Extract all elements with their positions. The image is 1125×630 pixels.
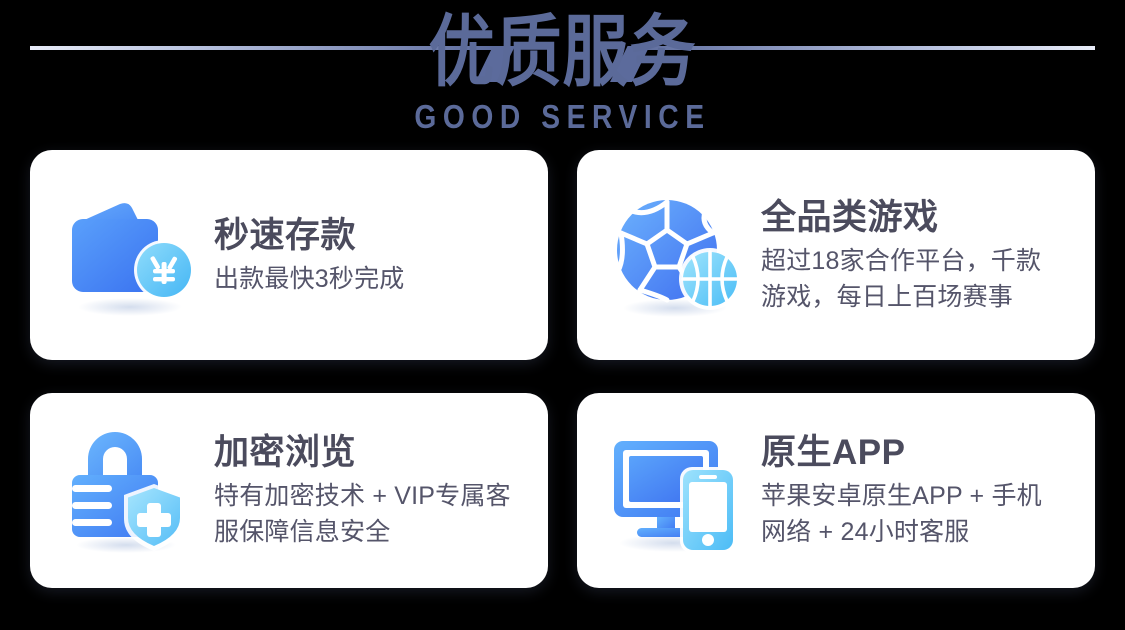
card-text-block: 加密浏览 特有加密技术 + VIP专属客 服保障信息安全 bbox=[208, 431, 522, 550]
feature-card-encryption[interactable]: 加密浏览 特有加密技术 + VIP专属客 服保障信息安全 bbox=[30, 393, 548, 588]
card-text-block: 原生APP 苹果安卓原生APP + 手机 网络 + 24小时客服 bbox=[755, 431, 1069, 550]
card-subtitle-line: 苹果安卓原生APP + 手机 bbox=[761, 478, 1069, 514]
card-title: 秒速存款 bbox=[214, 214, 522, 258]
card-subtitle-line: 特有加密技术 + VIP专属客 bbox=[214, 478, 522, 514]
card-subtitle: 超过18家合作平台，千款 游戏，每日上百场赛事 bbox=[761, 243, 1069, 315]
card-subtitle: 特有加密技术 + VIP专属客 服保障信息安全 bbox=[214, 478, 522, 550]
card-subtitle-line: 网络 + 24小时客服 bbox=[761, 514, 1069, 550]
card-text-block: 全品类游戏 超过18家合作平台，千款 游戏，每日上百场赛事 bbox=[755, 196, 1069, 315]
feature-card-deposit[interactable]: 秒速存款 出款最快3秒完成 bbox=[30, 150, 548, 360]
card-subtitle: 出款最快3秒完成 bbox=[214, 261, 522, 297]
page-title: 优质服务 bbox=[0, 4, 1125, 101]
card-title: 原生APP bbox=[761, 431, 1069, 475]
card-subtitle-line: 出款最快3秒完成 bbox=[214, 261, 522, 297]
card-subtitle-line: 游戏，每日上百场赛事 bbox=[761, 279, 1069, 315]
page-header: 优质服务 GOOD SERVICE bbox=[0, 0, 1125, 145]
card-title: 加密浏览 bbox=[214, 431, 522, 475]
card-subtitle-line: 超过18家合作平台，千款 bbox=[761, 243, 1069, 279]
feature-card-grid: 秒速存款 出款最快3秒完成 bbox=[30, 150, 1095, 588]
card-title: 全品类游戏 bbox=[761, 196, 1069, 240]
monitor-phone-icon bbox=[605, 423, 755, 558]
card-subtitle-line: 服保障信息安全 bbox=[214, 514, 522, 550]
feature-card-games[interactable]: 全品类游戏 超过18家合作平台，千款 游戏，每日上百场赛事 bbox=[577, 150, 1095, 360]
lock-shield-icon bbox=[58, 423, 208, 558]
wallet-coin-icon bbox=[58, 188, 208, 323]
feature-card-native-app[interactable]: 原生APP 苹果安卓原生APP + 手机 网络 + 24小时客服 bbox=[577, 393, 1095, 588]
page-subtitle: GOOD SERVICE bbox=[34, 99, 1092, 137]
soccer-basketball-icon bbox=[605, 188, 755, 323]
card-text-block: 秒速存款 出款最快3秒完成 bbox=[208, 214, 522, 297]
card-subtitle: 苹果安卓原生APP + 手机 网络 + 24小时客服 bbox=[761, 478, 1069, 550]
